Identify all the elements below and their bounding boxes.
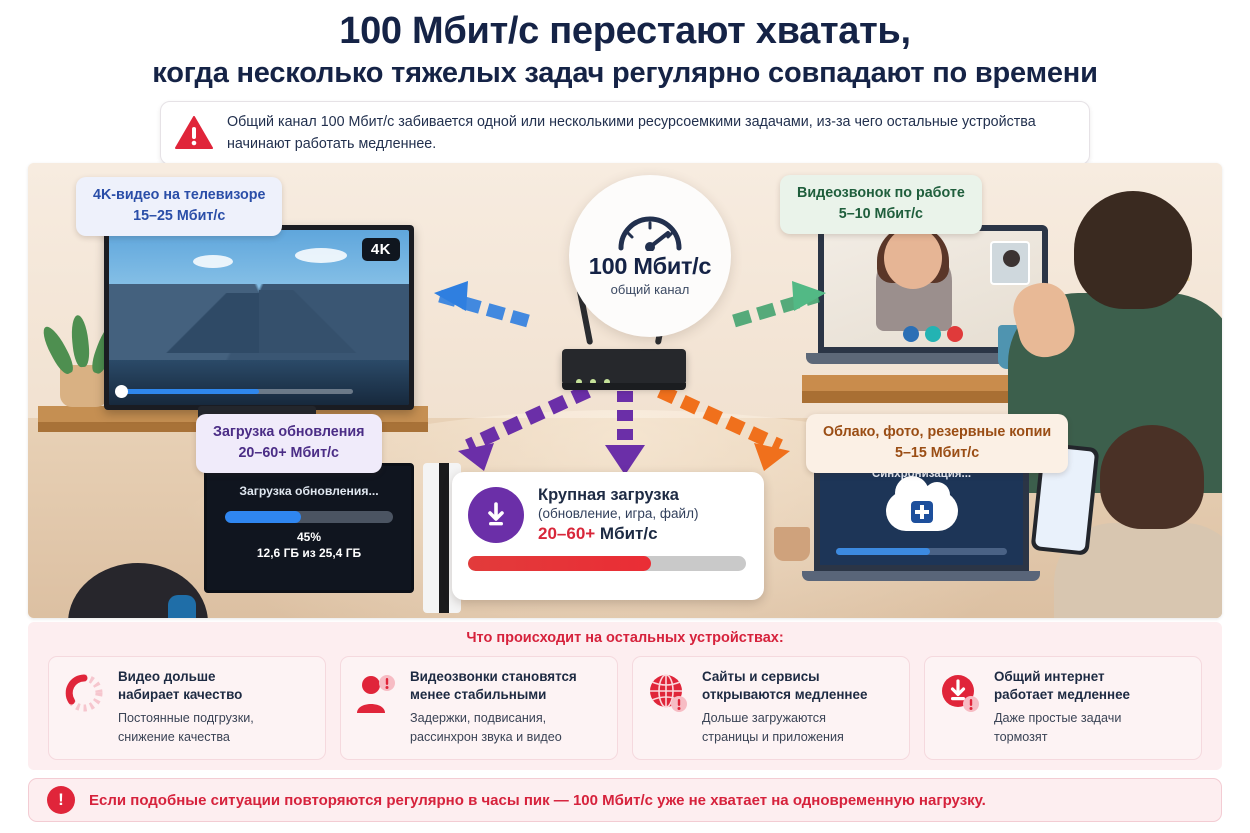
badge-download: Загрузка обновления 20–60+ Мбит/с <box>196 414 382 473</box>
call-camera-icon[interactable] <box>925 326 941 342</box>
gamer-monitor-percent: 45% <box>223 530 395 544</box>
wifi-router <box>562 333 686 381</box>
card-text: снижение качества <box>118 729 254 746</box>
gamer-monitor-title: Загрузка обновления... <box>223 484 395 498</box>
consequence-card-video: Видео дольше набирает качество Постоянны… <box>48 656 326 760</box>
loading-spinner-icon <box>62 671 106 715</box>
plant-pot-small <box>774 527 810 561</box>
badge-tv-video: 4K-видео на телевизоре 15–25 Мбит/с <box>76 177 282 236</box>
card-heading: Видеозвонки становятся <box>410 668 577 686</box>
router-led <box>604 379 610 385</box>
top-alert-box: Общий канал 100 Мбит/с забивается одной … <box>160 101 1090 165</box>
plant-pot <box>60 365 108 407</box>
card-heading: менее стабильными <box>410 686 577 704</box>
badge-tv-rate: 15–25 Мбит/с <box>93 207 265 226</box>
badge-tv-title: 4K-видео на телевизоре <box>93 186 265 205</box>
card-heading: Видео дольше <box>118 668 254 686</box>
consequence-card-sites: Сайты и сервисы открываются медленнее До… <box>632 656 910 760</box>
download-card-rate: 20–60+ <box>538 524 595 543</box>
badge-download-title: Загрузка обновления <box>213 423 365 442</box>
cloud-shape <box>193 255 233 268</box>
gamer-monitor: Загрузка обновления... 45% 12,6 ГБ из 25… <box>204 463 414 593</box>
exclamation-circle-icon: ! <box>47 786 75 814</box>
consequences-cards: Видео дольше набирает качество Постоянны… <box>28 646 1222 760</box>
consequences-section: Что происходит на остальных устройствах:… <box>28 622 1222 770</box>
headphones-icon <box>168 595 196 618</box>
page-header: 100 Мбит/с перестают хватать, когда неск… <box>0 0 1250 90</box>
card-text: страницы и приложения <box>702 729 867 746</box>
card-heading: открываются медленнее <box>702 686 867 704</box>
badge-cloud: Облако, фото, резервные копии 5–15 Мбит/… <box>806 414 1068 473</box>
gamer-monitor-progress <box>225 511 393 523</box>
consequence-card-calls: Видеозвонки становятся менее стабильными… <box>340 656 618 760</box>
badge-call-title: Видеозвонок по работе <box>797 184 965 203</box>
download-alert-icon <box>938 671 982 715</box>
mountain-shape <box>139 293 259 353</box>
globe-alert-icon <box>646 671 690 715</box>
speedometer-caption: общий канал <box>611 282 690 297</box>
page-title-line2: когда несколько тяжелых задач регулярно … <box>20 56 1230 90</box>
tv-screen: 4K <box>109 230 409 405</box>
gauge-icon <box>614 211 686 251</box>
card-heading: набирает качество <box>118 686 254 704</box>
card-text: рассинхрон звука и видео <box>410 729 577 746</box>
card-heading: Сайты и сервисы <box>702 668 867 686</box>
router-led <box>590 379 596 385</box>
call-participant-face <box>884 227 942 289</box>
man-head <box>1074 191 1192 309</box>
gamer-monitor-size: 12,6 ГБ из 25,4 ГБ <box>223 546 395 560</box>
page-title-line1: 100 Мбит/с перестают хватать, <box>20 10 1230 53</box>
person-alert-icon <box>354 671 398 715</box>
card-text: Даже простые задачи <box>994 710 1130 727</box>
tv-quality-badge: 4K <box>362 238 400 261</box>
speedometer-value: 100 Мбит/с <box>589 253 711 280</box>
lake-shape <box>109 360 409 406</box>
badge-download-rate: 20–60+ Мбит/с <box>213 444 365 463</box>
cloud-plus-icon <box>911 501 933 523</box>
cloud-laptop-base <box>802 571 1040 581</box>
download-card-title: Крупная загрузка <box>538 486 698 505</box>
consequence-card-internet: Общий интернет работает медленнее Даже п… <box>924 656 1202 760</box>
infographic-page: 100 Мбит/с перестают хватать, когда неск… <box>0 0 1250 833</box>
cloud-shape <box>295 248 347 263</box>
television: 4K <box>104 225 414 410</box>
download-card-subtitle: (обновление, игра, файл) <box>538 506 698 521</box>
woman-head <box>1100 425 1204 529</box>
warning-triangle-icon <box>175 116 213 150</box>
speedometer-badge: 100 Мбит/с общий канал <box>569 175 731 337</box>
call-info-icon[interactable] <box>903 326 919 342</box>
footer-text: Если подобные ситуации повторяются регул… <box>89 792 986 809</box>
consequences-title: Что происходит на остальных устройствах: <box>28 622 1222 646</box>
download-card: Крупная загрузка (обновление, игра, файл… <box>452 472 764 600</box>
top-alert-text: Общий канал 100 Мбит/с забивается одной … <box>227 111 1071 155</box>
card-text: Дольше загружаются <box>702 710 867 727</box>
router-body <box>562 349 686 385</box>
illustration-panel: 4K Загрузка обновления... 45% 12,6 ГБ из… <box>28 163 1222 618</box>
self-view-thumbnail <box>990 241 1030 285</box>
download-card-progress <box>468 556 746 571</box>
call-hangup-icon[interactable] <box>947 326 963 342</box>
card-text: Задержки, подвисания, <box>410 710 577 727</box>
badge-video-call: Видеозвонок по работе 5–10 Мбит/с <box>780 175 982 234</box>
card-heading: работает медленнее <box>994 686 1130 704</box>
download-arrow-icon <box>468 487 524 543</box>
router-led <box>576 379 582 385</box>
card-text: тормозят <box>994 729 1130 746</box>
badge-call-rate: 5–10 Мбит/с <box>797 205 965 224</box>
tv-progress-bar <box>119 389 353 394</box>
plant-leaf <box>70 314 91 367</box>
badge-cloud-rate: 5–15 Мбит/с <box>823 444 1051 463</box>
download-card-unit: Мбит/с <box>595 524 657 543</box>
mountain-shape <box>259 290 385 353</box>
badge-cloud-title: Облако, фото, резервные копии <box>823 423 1051 442</box>
card-text: Постоянные подгрузки, <box>118 710 254 727</box>
cloud-sync-progress <box>836 548 1007 555</box>
call-controls <box>903 326 963 342</box>
card-heading: Общий интернет <box>994 668 1130 686</box>
footer-alert: ! Если подобные ситуации повторяются рег… <box>28 778 1222 822</box>
